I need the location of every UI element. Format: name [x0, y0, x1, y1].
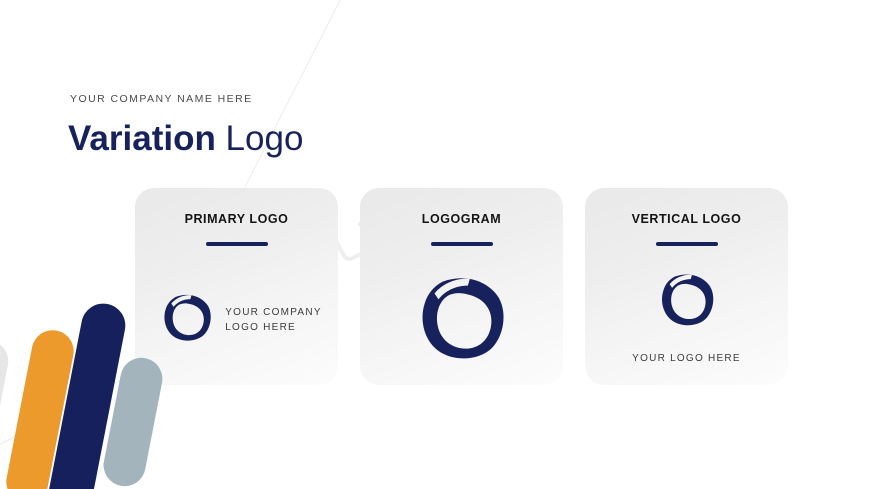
- company-name-eyebrow: YOUR COMPANY NAME HERE: [70, 93, 253, 105]
- card-title: VERTICAL LOGO: [585, 212, 788, 226]
- card-divider-rule: [431, 242, 493, 246]
- brand-mark-icon: [656, 268, 718, 335]
- slide-canvas: YOUR COMPANY NAME HERE Variation Logo Sl…: [0, 0, 870, 489]
- card-caption: YOUR LOGO HERE: [632, 351, 741, 366]
- card-body: [360, 254, 563, 385]
- card-title: PRIMARY LOGO: [135, 212, 338, 226]
- logo-variation-cards: PRIMARY LOGO YOUR COMPANY LOGO HERE LOGO…: [135, 188, 788, 385]
- page-title: Variation Logo: [68, 118, 303, 160]
- decorative-bars: [0, 289, 200, 489]
- card-divider-rule: [656, 242, 718, 246]
- page-title-light: Logo: [216, 119, 304, 158]
- card-vertical-logo[interactable]: VERTICAL LOGO YOUR LOGO HERE: [585, 188, 788, 385]
- card-caption: YOUR COMPANY LOGO HERE: [225, 305, 322, 335]
- card-title: LOGOGRAM: [360, 212, 563, 226]
- card-body: YOUR LOGO HERE: [585, 254, 788, 385]
- page-title-strong: Variation: [68, 119, 216, 158]
- card-logogram[interactable]: LOGOGRAM: [360, 188, 563, 385]
- brand-mark-icon: [413, 268, 511, 371]
- card-divider-rule: [206, 242, 268, 246]
